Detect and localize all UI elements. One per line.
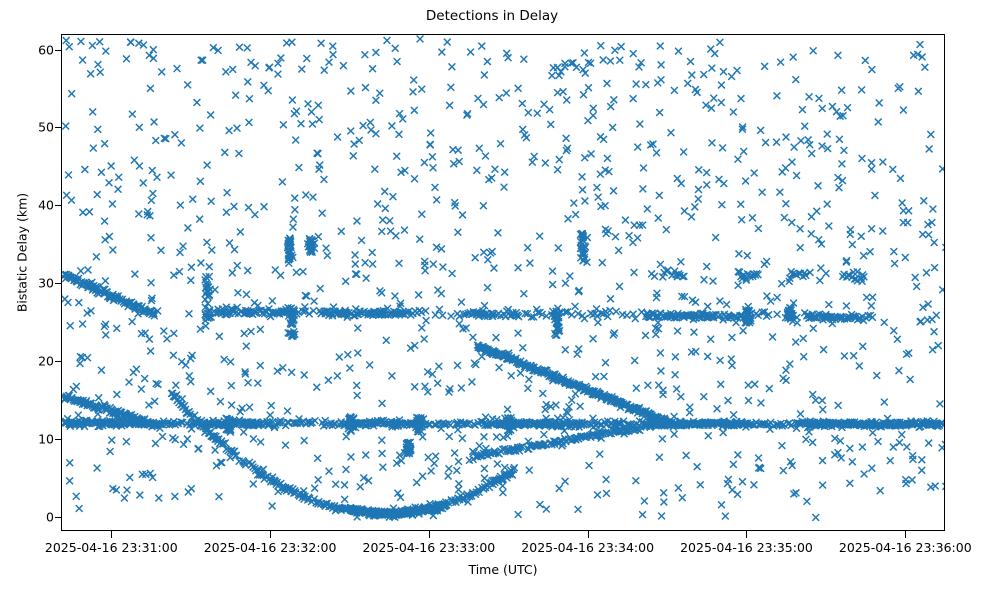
detection-marker [445, 465, 452, 472]
detection-marker [293, 269, 300, 276]
detection-marker [390, 193, 397, 200]
detection-marker [504, 406, 511, 413]
detection-marker [797, 244, 804, 251]
detection-marker [180, 243, 187, 250]
chart-title: Detections in Delay [0, 8, 984, 24]
detection-marker [329, 43, 336, 50]
detection-marker [709, 139, 716, 146]
detection-marker [658, 513, 665, 520]
detection-marker [305, 100, 312, 107]
detection-marker [819, 406, 826, 413]
detection-marker [432, 184, 439, 191]
detection-marker [717, 357, 724, 364]
detection-marker [930, 206, 937, 213]
detection-marker [313, 384, 320, 391]
detection-marker [623, 312, 630, 319]
detection-marker [555, 245, 562, 252]
detection-marker [894, 336, 901, 343]
detection-marker [207, 388, 214, 395]
detection-marker [862, 57, 869, 64]
detection-marker [549, 72, 556, 79]
detection-marker [334, 372, 341, 379]
detection-marker [102, 321, 109, 328]
detection-marker [829, 103, 836, 110]
detection-marker [315, 233, 322, 240]
detection-marker [186, 372, 193, 379]
detection-marker [160, 328, 167, 335]
detection-marker [366, 362, 373, 369]
x-tick-label: 2025-04-16 23:32:00 [180, 540, 360, 555]
detection-marker [570, 200, 577, 207]
detection-marker [825, 223, 832, 230]
detection-marker [515, 264, 522, 271]
detection-marker [410, 88, 417, 95]
detection-marker [887, 457, 894, 464]
detection-marker [353, 382, 360, 389]
detection-marker [223, 209, 230, 216]
detection-marker [783, 134, 790, 141]
detection-marker [381, 188, 388, 195]
detection-marker [675, 48, 682, 55]
detection-marker [244, 267, 251, 274]
y-tick-mark [55, 283, 62, 284]
detection-marker [656, 109, 663, 116]
detection-marker [604, 80, 611, 87]
detection-marker [150, 46, 157, 53]
detection-marker [603, 476, 610, 483]
detection-marker [252, 211, 259, 218]
detection-marker [496, 364, 503, 371]
detection-marker [184, 436, 191, 443]
detection-marker [311, 298, 318, 305]
detection-marker [372, 49, 379, 56]
detection-marker [344, 351, 351, 358]
detection-marker [875, 438, 882, 445]
detection-marker [590, 112, 597, 119]
detection-marker [224, 189, 231, 196]
detection-marker [227, 358, 234, 365]
detection-marker [590, 105, 597, 112]
detection-marker [710, 95, 717, 102]
detection-marker [174, 65, 181, 72]
detection-marker [95, 394, 102, 401]
detection-marker [556, 156, 563, 163]
detection-marker [430, 164, 437, 171]
detection-marker [236, 44, 243, 51]
detection-marker [641, 498, 648, 505]
detection-marker [657, 261, 664, 268]
detection-marker [171, 131, 178, 138]
detection-marker [890, 327, 897, 334]
detection-marker [170, 330, 177, 337]
detection-marker [77, 360, 84, 367]
detection-marker [931, 264, 938, 271]
detection-marker [630, 95, 637, 102]
detection-marker [354, 325, 361, 332]
detection-marker [659, 435, 666, 442]
detection-marker [440, 264, 447, 271]
detection-marker [126, 474, 133, 481]
detection-marker [788, 219, 795, 226]
detection-marker [321, 67, 328, 74]
detection-marker [797, 225, 804, 232]
detection-marker [341, 482, 348, 489]
detection-marker [476, 442, 483, 449]
detection-marker [501, 169, 508, 176]
detection-marker [588, 151, 595, 158]
detection-marker [127, 39, 134, 46]
detection-marker [431, 460, 438, 467]
detection-marker [563, 135, 570, 142]
detection-marker [738, 95, 745, 102]
detection-marker [868, 66, 875, 73]
detection-marker [835, 52, 842, 59]
chart-figure: Detections in Delay 0102030405060 2025-0… [0, 0, 984, 590]
detection-marker [311, 485, 318, 492]
detection-marker [717, 381, 724, 388]
detection-marker [675, 485, 682, 492]
detection-marker [819, 457, 826, 464]
detection-marker [146, 402, 153, 409]
detection-marker [607, 58, 614, 65]
detection-marker [549, 268, 556, 275]
detection-marker [330, 51, 337, 58]
detection-marker [475, 95, 482, 102]
detection-marker [95, 61, 102, 68]
detection-marker [451, 450, 458, 457]
detection-marker [626, 232, 633, 239]
detection-marker [326, 468, 333, 475]
detection-marker [657, 43, 664, 50]
detection-marker [150, 190, 157, 197]
detection-marker [774, 311, 781, 318]
detection-marker [835, 402, 842, 409]
y-tick-label: 10 [8, 432, 54, 447]
detection-marker [494, 460, 501, 467]
detection-marker [222, 68, 229, 75]
detection-marker [154, 174, 161, 181]
detection-marker [136, 124, 143, 131]
detection-marker [152, 440, 159, 447]
detection-marker [93, 253, 100, 260]
detection-marker [188, 485, 195, 492]
detection-marker [612, 47, 619, 54]
detection-marker [686, 409, 693, 416]
detection-marker [63, 192, 70, 199]
detection-marker [148, 197, 155, 204]
detection-marker [392, 45, 399, 52]
detection-marker [890, 248, 897, 255]
detection-marker [221, 356, 228, 363]
detection-marker [640, 165, 647, 172]
detection-marker [579, 173, 586, 180]
detection-marker [283, 40, 290, 47]
detection-marker [480, 249, 487, 256]
detection-marker [66, 43, 73, 50]
detection-marker [595, 319, 602, 326]
detection-marker [879, 159, 886, 166]
detection-marker [515, 511, 522, 518]
detection-marker [631, 357, 638, 364]
detection-marker [759, 189, 766, 196]
detection-marker [481, 433, 488, 440]
detection-marker [644, 382, 651, 389]
detection-marker [668, 129, 675, 136]
detection-marker [903, 444, 910, 451]
detection-marker [515, 85, 522, 92]
detection-marker [379, 464, 386, 471]
detection-marker [728, 73, 735, 80]
detection-marker [873, 372, 880, 379]
detection-marker [319, 210, 326, 217]
detection-marker [656, 192, 663, 199]
detection-marker [272, 266, 279, 273]
detection-marker [519, 126, 526, 133]
detection-marker [745, 397, 752, 404]
detection-marker [839, 177, 846, 184]
detection-marker [491, 265, 498, 272]
detection-marker [915, 88, 922, 95]
detection-marker [703, 181, 710, 188]
detection-marker [809, 439, 816, 446]
y-axis-label: Bistatic Delay (km) [15, 123, 30, 383]
detection-marker [804, 498, 811, 505]
detection-marker [135, 211, 142, 218]
detection-marker [376, 90, 383, 97]
detection-marker [447, 84, 454, 91]
detection-marker [780, 467, 787, 474]
detection-marker [672, 371, 679, 378]
detection-marker [549, 281, 556, 288]
detection-marker [810, 325, 817, 332]
detection-marker [562, 478, 569, 485]
detection-marker [501, 184, 508, 191]
detection-marker [150, 55, 157, 62]
detection-marker [931, 328, 938, 335]
scatter-plot-canvas[interactable] [62, 35, 945, 531]
detection-marker [536, 233, 543, 240]
detection-marker [523, 134, 530, 141]
detection-marker [755, 225, 762, 232]
detection-marker [428, 468, 435, 475]
detection-marker [607, 295, 614, 302]
detection-marker [801, 123, 808, 130]
detection-marker [890, 444, 897, 451]
detection-marker [655, 382, 662, 389]
detection-marker [482, 153, 489, 160]
detection-marker [341, 496, 348, 503]
detection-marker [148, 279, 155, 286]
detection-marker [791, 144, 798, 151]
detection-marker [433, 196, 440, 203]
detection-marker [613, 308, 620, 315]
x-axis-label: Time (UTC) [61, 562, 945, 577]
detection-marker [596, 451, 603, 458]
detection-marker [226, 240, 233, 247]
detection-marker [76, 505, 83, 512]
detection-marker [229, 66, 236, 73]
detection-marker [838, 160, 845, 167]
detection-marker [536, 501, 543, 508]
detection-marker [766, 385, 773, 392]
detection-marker [481, 302, 488, 309]
detection-marker [188, 264, 195, 271]
detection-marker [547, 121, 554, 128]
y-tick-mark [55, 439, 62, 440]
detection-marker [602, 226, 609, 233]
detection-marker [362, 84, 369, 91]
detection-marker [918, 456, 925, 463]
detection-marker [572, 211, 579, 218]
detection-marker [740, 327, 747, 334]
detection-marker [744, 252, 751, 259]
detection-marker [639, 511, 646, 518]
detection-marker [446, 102, 453, 109]
x-tick-label: 2025-04-16 23:33:00 [339, 540, 519, 555]
detection-marker [524, 385, 531, 392]
detection-marker [520, 290, 527, 297]
detection-marker [630, 50, 637, 57]
detection-marker [138, 386, 145, 393]
detection-marker [658, 61, 665, 68]
detection-marker [900, 219, 907, 226]
x-tick-mark [429, 531, 430, 538]
detection-marker [843, 302, 850, 309]
detection-marker [149, 167, 156, 174]
detection-marker [425, 454, 432, 461]
plot-axes-area[interactable] [61, 34, 945, 531]
detection-marker [427, 130, 434, 137]
detection-marker [836, 136, 843, 143]
detection-marker [300, 268, 307, 275]
detection-marker [326, 59, 333, 66]
detection-marker [554, 89, 561, 96]
detection-points-group [62, 36, 945, 521]
detection-marker [419, 473, 426, 480]
detection-marker [196, 125, 203, 132]
detection-marker [684, 80, 691, 87]
detection-marker [347, 88, 354, 95]
detection-marker [868, 166, 875, 173]
x-tick-mark [746, 531, 747, 538]
detection-marker [899, 200, 906, 207]
detection-marker [430, 261, 437, 268]
detection-marker [195, 445, 202, 452]
detection-marker [835, 174, 842, 181]
detection-marker [500, 489, 507, 496]
detection-marker [187, 378, 194, 385]
detection-marker [781, 214, 788, 221]
detection-marker [234, 262, 241, 269]
detection-marker [480, 202, 487, 209]
detection-marker [67, 322, 74, 329]
detection-marker [396, 131, 403, 138]
detection-marker [289, 97, 296, 104]
detection-marker [575, 506, 582, 513]
detection-marker [336, 354, 343, 361]
detection-marker [373, 130, 380, 137]
detection-marker [438, 49, 445, 56]
detection-marker [189, 196, 196, 203]
detection-marker [898, 431, 905, 438]
detection-marker [566, 273, 573, 280]
detection-marker [78, 38, 85, 45]
detection-marker [109, 201, 116, 208]
detection-marker [841, 353, 848, 360]
detection-marker [113, 391, 120, 398]
detection-marker [309, 121, 316, 128]
detection-marker [568, 397, 575, 404]
detection-marker [449, 270, 456, 277]
detection-marker [681, 208, 688, 215]
detection-marker [764, 293, 771, 300]
detection-marker [550, 64, 557, 71]
detection-marker [98, 169, 105, 176]
detection-marker [170, 352, 177, 359]
detection-marker [896, 367, 903, 374]
detection-marker [168, 172, 175, 179]
detection-marker [792, 76, 799, 83]
detection-marker [159, 433, 166, 440]
detection-marker [85, 267, 92, 274]
detection-marker [859, 444, 866, 451]
detection-marker [590, 335, 597, 342]
detection-marker [631, 222, 638, 229]
detection-marker [799, 106, 806, 113]
detection-marker [905, 207, 912, 214]
detection-marker [94, 126, 101, 133]
detection-marker [704, 303, 711, 310]
detection-marker [735, 282, 742, 289]
detection-marker [581, 154, 588, 161]
detection-marker [101, 218, 108, 225]
detection-marker [246, 95, 253, 102]
detection-marker [267, 412, 274, 419]
detection-marker [716, 39, 723, 46]
detection-marker [444, 39, 451, 46]
detection-marker [204, 162, 211, 169]
detection-marker [79, 209, 86, 216]
detection-marker [824, 131, 831, 138]
detection-marker [678, 180, 685, 187]
detection-marker [716, 298, 723, 305]
detection-marker [250, 481, 257, 488]
detection-marker [65, 172, 72, 179]
detection-marker [792, 339, 799, 346]
detection-marker [109, 247, 116, 254]
detection-marker [123, 55, 130, 62]
detection-marker [207, 112, 214, 119]
detection-marker [868, 159, 875, 166]
detection-marker [484, 58, 491, 65]
detection-marker [115, 186, 122, 193]
detection-marker [927, 131, 934, 138]
detection-marker [838, 87, 845, 94]
detection-marker [701, 276, 708, 283]
detection-marker [734, 491, 741, 498]
detection-marker [68, 90, 75, 97]
detection-marker [438, 290, 445, 297]
detection-marker [519, 344, 526, 351]
detection-marker [484, 284, 491, 291]
detection-marker [248, 59, 255, 66]
detection-marker [470, 334, 477, 341]
detection-marker [260, 82, 267, 89]
detection-marker [280, 121, 287, 128]
detection-marker [679, 494, 686, 501]
detection-marker [393, 153, 400, 160]
detection-marker [757, 127, 764, 134]
